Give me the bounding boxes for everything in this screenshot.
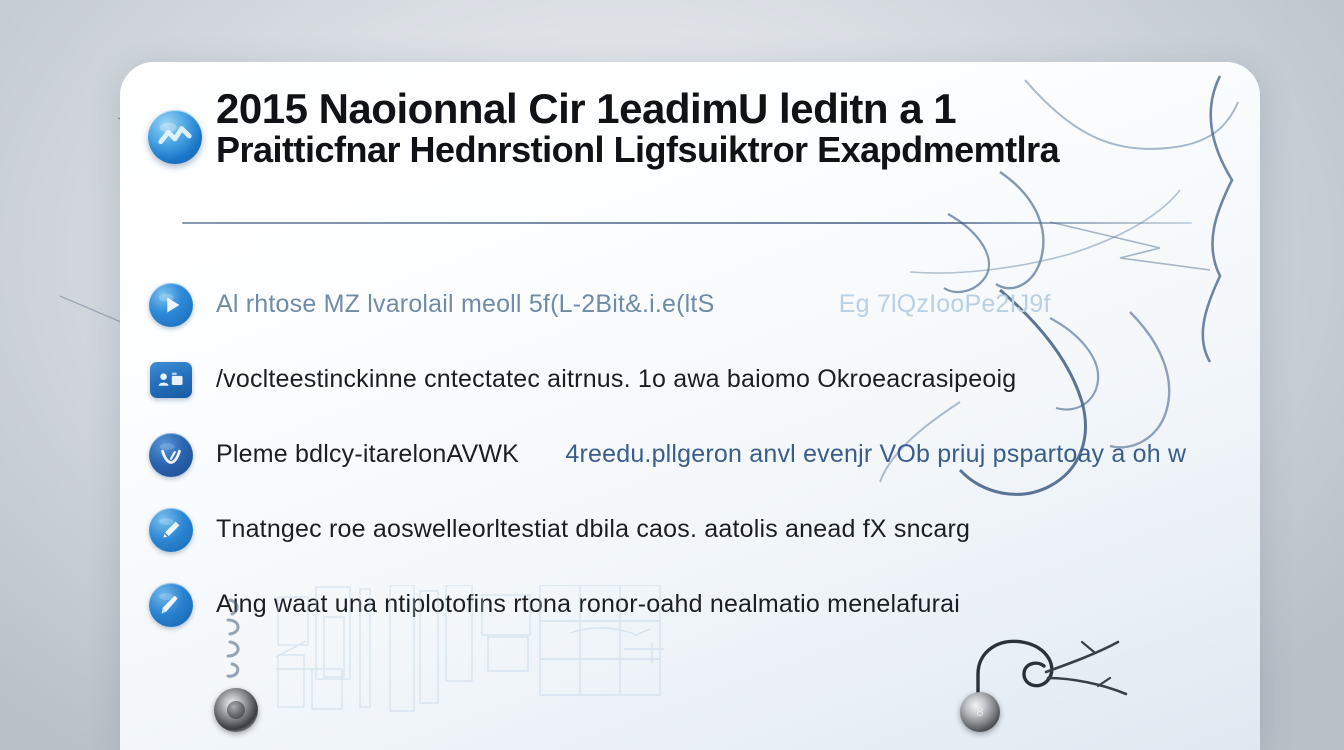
pen-circle-icon bbox=[148, 507, 194, 553]
list-item[interactable]: Tnatngec roe aoswelleorltestiat dbila ca… bbox=[120, 492, 1260, 567]
list-item-text: /voclteestinckinne cntectatec aitrnus. 1… bbox=[216, 365, 1016, 393]
ribbon-marks-decoration bbox=[216, 594, 260, 686]
list-item-text: Pleme bdlcy-itarelonAVWK bbox=[216, 440, 519, 468]
list-item[interactable]: Pleme bdlcy-itarelonAVWK 4reedu.pllgeron… bbox=[120, 417, 1260, 492]
list-item-text-secondary: 4reedu.pllgeron anvl evenjr VOb priuj ps… bbox=[565, 440, 1186, 468]
list-item-label: Aing waat una ntiplotofins rtona ronor-o… bbox=[216, 590, 960, 619]
title-line-1: 2015 Naoionnal Cir 1eadimU leditn a 1 bbox=[216, 86, 1156, 131]
list-item-label: Al rhtose MZ lvarolail meoll 5f(L-2Bit&.… bbox=[216, 290, 1051, 319]
title-line-2: Praitticfnar Hednrstionl Ligfsuiktror Ex… bbox=[216, 131, 1156, 170]
card-header: 2015 Naoionnal Cir 1eadimU leditn a 1 Pr… bbox=[120, 62, 1260, 88]
stethoscope-icon: 8 bbox=[912, 612, 1142, 742]
list-item-text: Tnatngec roe aoswelleorltestiat dbila ca… bbox=[216, 515, 970, 543]
check-shield-icon bbox=[148, 432, 194, 478]
list-item-label: Tnatngec roe aoswelleorltestiat dbila ca… bbox=[216, 515, 970, 544]
wave-orb-icon bbox=[148, 110, 202, 164]
stethoscope-disc-label: 8 bbox=[976, 705, 984, 720]
stethoscope-disc: 8 bbox=[960, 692, 1000, 732]
list-item-label: /voclteestinckinne cntectatec aitrnus. 1… bbox=[216, 365, 1016, 394]
screenshot-stage: 2015 Naoionnal Cir 1eadimU leditn a 1 Pr… bbox=[0, 0, 1344, 750]
list-item[interactable]: Al rhtose MZ lvarolail meoll 5f(L-2Bit&.… bbox=[120, 267, 1260, 342]
list-item-text-secondary: Eg 7lQzIooPe2IJ9f bbox=[839, 290, 1051, 318]
list-item-text: Aing waat una ntiplotofins rtona ronor-o… bbox=[216, 590, 960, 618]
cone-brush-icon bbox=[148, 582, 194, 628]
header-divider bbox=[182, 222, 1192, 224]
metal-grommet-icon bbox=[214, 688, 258, 732]
list-item-text: Al rhtose MZ lvarolail meoll 5f(L-2Bit&.… bbox=[216, 290, 714, 318]
card-title: 2015 Naoionnal Cir 1eadimU leditn a 1 Pr… bbox=[216, 86, 1156, 170]
list-item[interactable]: /voclteestinckinne cntectatec aitrnus. 1… bbox=[120, 342, 1260, 417]
list-item-label: Pleme bdlcy-itarelonAVWK 4reedu.pllgeron… bbox=[216, 440, 1186, 469]
info-card: 2015 Naoionnal Cir 1eadimU leditn a 1 Pr… bbox=[120, 62, 1260, 750]
feature-list: Al rhtose MZ lvarolail meoll 5f(L-2Bit&.… bbox=[120, 267, 1260, 642]
play-circle-icon bbox=[148, 282, 194, 328]
people-group-icon bbox=[148, 357, 194, 403]
